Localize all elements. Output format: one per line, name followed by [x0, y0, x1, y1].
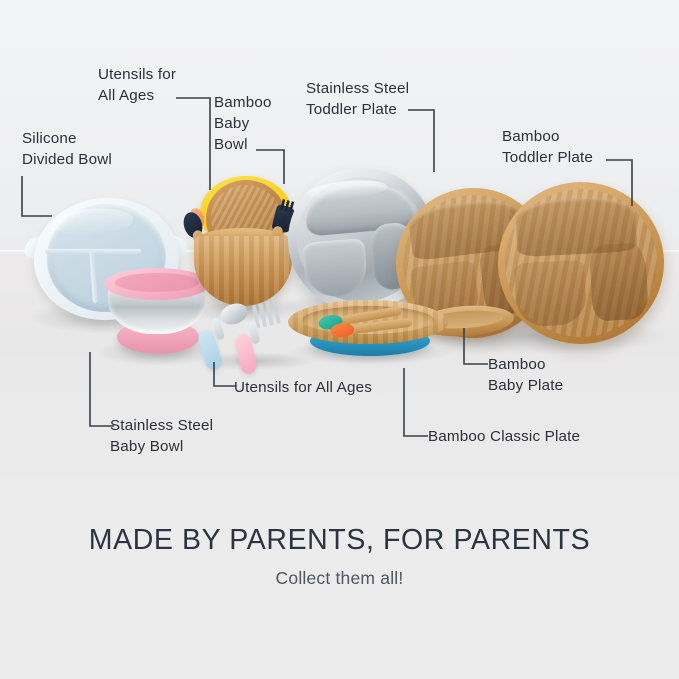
- product-bamboo-baby-bowl: [192, 176, 298, 316]
- bamboo-toddler-front-section-bottom-left: [514, 260, 587, 328]
- label-silicone-divided-bowl: Silicone Divided Bowl: [22, 128, 192, 170]
- label-utensils-for-all-ages-top: Utensils for All Ages: [98, 64, 218, 106]
- utensil-fork-tines: [251, 299, 282, 329]
- footer-subline: Collect them all!: [0, 568, 679, 589]
- ss-baby-bowl-lid-inner: [115, 273, 199, 292]
- label-utensils-for-all-ages-bottom: Utensils for All Ages: [234, 377, 434, 398]
- product-infographic: Silicone Divided Bowl Utensils for All A…: [0, 0, 679, 679]
- label-stainless-steel-baby-bowl: Stainless Steel Baby Bowl: [110, 415, 270, 457]
- label-bamboo-classic-plate: Bamboo Classic Plate: [428, 426, 628, 447]
- footer-headline: MADE BY PARENTS, FOR PARENTS: [0, 524, 679, 557]
- label-bamboo-baby-bowl: Bamboo Baby Bowl: [214, 92, 296, 155]
- utensil-spoon-bowl: [217, 300, 250, 328]
- label-stainless-steel-toddler-plate: Stainless Steel Toddler Plate: [306, 78, 466, 120]
- label-bamboo-baby-plate: Bamboo Baby Plate: [488, 354, 598, 396]
- bamboo-toddler-front-section-bottom-right: [589, 243, 649, 322]
- product-utensils-for-all-ages: [198, 300, 308, 364]
- label-bamboo-toddler-plate: Bamboo Toddler Plate: [502, 126, 642, 168]
- bamboo-baby-bowl-body: [194, 236, 292, 306]
